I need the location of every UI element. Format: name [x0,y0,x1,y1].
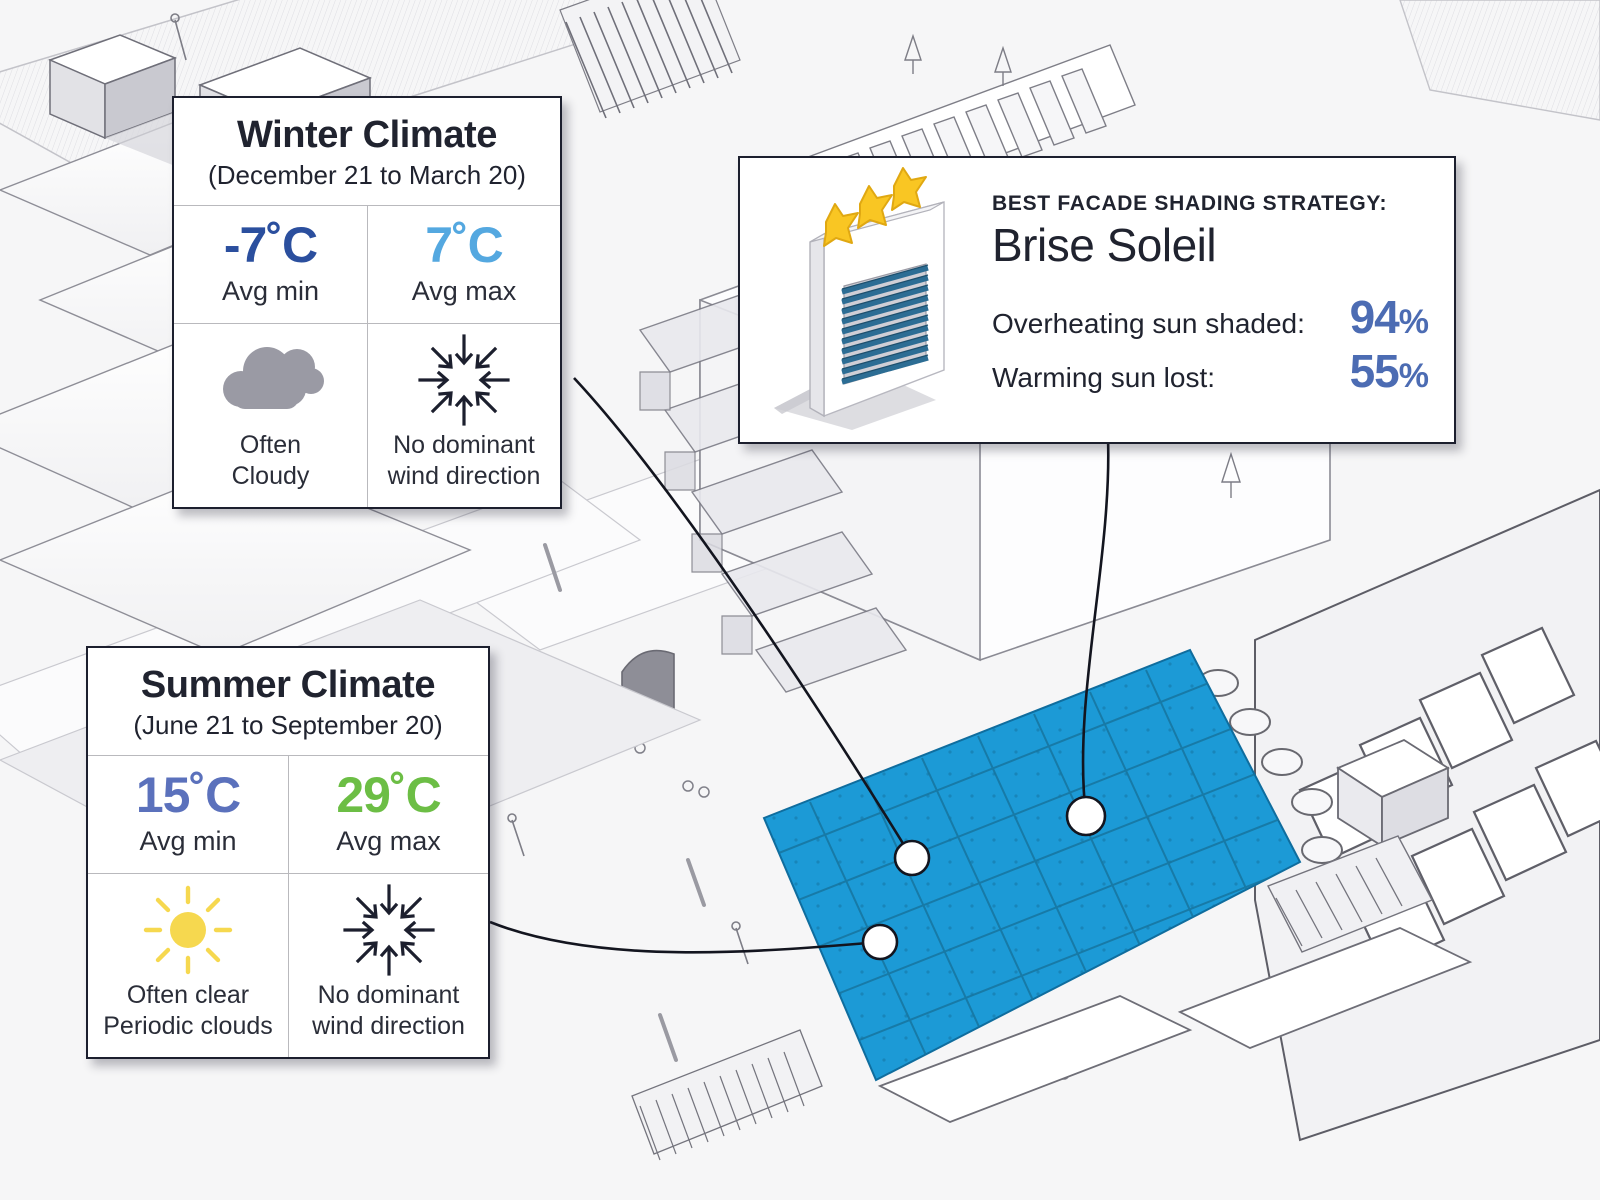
summer-wind-caption: No dominant wind direction [312,980,465,1041]
strategy-text-block: BEST FACADE SHADING STRATEGY: Brise Sole… [992,158,1454,442]
summer-card-header: Summer Climate (June 21 to September 20) [88,648,488,755]
winter-wind-caption-line2: wind direction [388,461,541,492]
strategy-name: Brise Soleil [992,220,1428,271]
no-dominant-wind-icon [416,338,512,422]
climate-analysis-overlay: Winter Climate (December 21 to March 20)… [0,0,1600,1200]
connector-summer [490,922,880,952]
winter-wind-cell: No dominant wind direction [367,323,560,507]
strategy-kicker: BEST FACADE SHADING STRATEGY: [992,192,1428,216]
winter-sky-caption: Often Cloudy [232,430,310,491]
summer-avg-max-label: Avg max [336,826,441,857]
summer-sky-caption-line1: Often clear [103,980,273,1011]
metric-number: 55 [1350,345,1399,397]
winter-wind-caption-line1: No dominant [388,430,541,461]
summer-wind-caption-line1: No dominant [312,980,465,1011]
plot-node[interactable] [1067,797,1105,835]
metric-unit: % [1399,357,1428,395]
strategy-metrics: Overheating sun shaded: 94% Warming sun … [992,293,1428,402]
winter-avg-max-cell: 7˚C Avg max [367,205,560,323]
cloudy-icon [215,338,327,422]
metric-label: Overheating sun shaded: [992,308,1305,340]
winter-wind-caption: No dominant wind direction [388,430,541,491]
summer-avg-min-label: Avg min [139,826,236,857]
metric-value: 55% [1350,347,1428,395]
metric-row: Overheating sun shaded: 94% [992,293,1428,341]
metric-unit: % [1399,303,1428,341]
summer-wind-caption-line2: wind direction [312,1011,465,1042]
metric-row: Warming sun lost: 55% [992,347,1428,395]
summer-card-metrics: 15˚C Avg min 29˚C Avg max [88,755,488,1057]
summer-card-subtitle: (June 21 to September 20) [98,709,478,742]
summer-avg-max-cell: 29˚C Avg max [288,755,488,873]
brise-soleil-louver-panel-icon [740,158,992,442]
winter-sky-caption-line2: Cloudy [232,461,310,492]
winter-card-metrics: -7˚C Avg min 7˚C Avg max [174,205,560,507]
summer-avg-min-value: 15˚C [136,770,240,820]
winter-card-title: Winter Climate [184,114,550,157]
winter-climate-card[interactable]: Winter Climate (December 21 to March 20)… [172,96,562,509]
summer-wind-cell: No dominant wind direction [288,873,488,1057]
metric-label: Warming sun lost: [992,362,1215,394]
sun-icon [142,888,234,972]
metric-number: 94 [1350,291,1399,343]
connector-strategy [1083,438,1108,816]
summer-sky-caption: Often clear Periodic clouds [103,980,273,1041]
summer-sky-caption-line2: Periodic clouds [103,1011,273,1042]
winter-avg-min-cell: -7˚C Avg min [174,205,367,323]
summer-sky-cell: Often clear Periodic clouds [88,873,288,1057]
summer-card-title: Summer Climate [98,664,478,707]
summer-avg-min-cell: 15˚C Avg min [88,755,288,873]
winter-card-subtitle: (December 21 to March 20) [184,159,550,192]
facade-shading-strategy-card[interactable]: BEST FACADE SHADING STRATEGY: Brise Sole… [738,156,1456,444]
winter-avg-max-label: Avg max [412,276,517,307]
summer-avg-max-value: 29˚C [336,770,440,820]
plot-node[interactable] [895,841,929,875]
winter-avg-min-value: -7˚C [224,220,317,270]
winter-sky-cell: Often Cloudy [174,323,367,507]
winter-sky-caption-line1: Often [232,430,310,461]
winter-avg-min-label: Avg min [222,276,319,307]
winter-avg-max-value: 7˚C [425,220,503,270]
plot-node[interactable] [863,925,897,959]
summer-climate-card[interactable]: Summer Climate (June 21 to September 20)… [86,646,490,1059]
winter-card-header: Winter Climate (December 21 to March 20) [174,98,560,205]
metric-value: 94% [1350,293,1428,341]
connector-winter [574,378,912,858]
no-dominant-wind-icon [341,888,437,972]
